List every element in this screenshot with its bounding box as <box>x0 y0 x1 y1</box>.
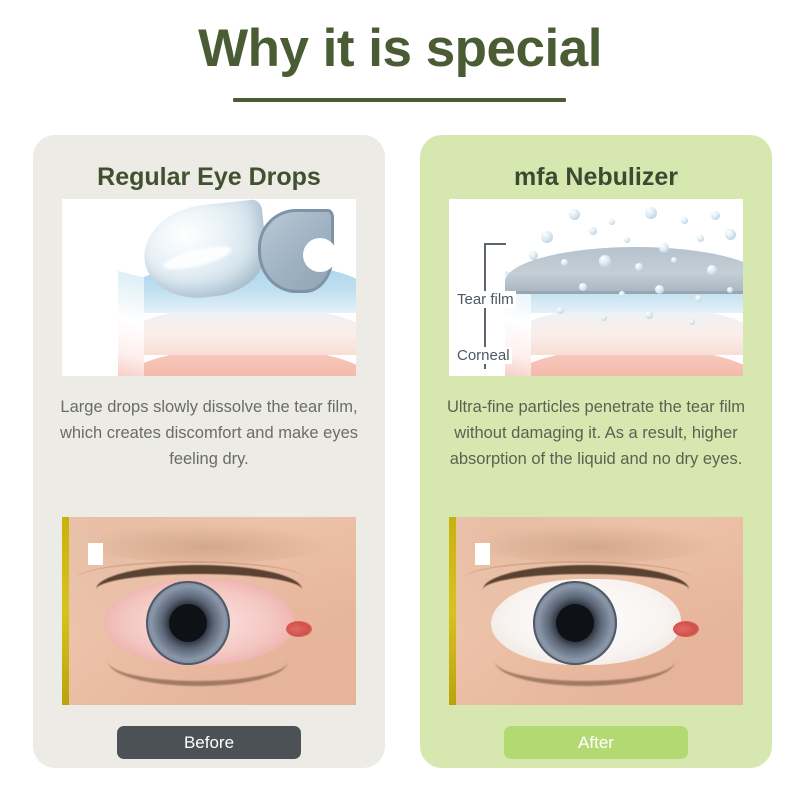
tear-film-label: Tear film <box>455 291 516 308</box>
before-eye-photo <box>62 517 356 705</box>
lower-eyelashes <box>495 637 675 686</box>
particle <box>689 319 695 325</box>
page-title: Why it is special <box>0 14 800 84</box>
illustration-ultra-fine-particles: Tear film Corneal <box>449 199 743 376</box>
particle <box>707 265 717 275</box>
lower-eyelashes <box>108 637 288 686</box>
particle <box>695 295 702 302</box>
illustration-large-droplet <box>62 199 356 376</box>
card-title: mfa Nebulizer <box>420 161 772 193</box>
corneal-light-reflection <box>475 543 490 565</box>
particle <box>541 231 553 243</box>
particle <box>579 283 587 291</box>
comparison-card-mfa-nebulizer: mfa Nebulizer <box>420 135 772 768</box>
particle <box>561 259 568 266</box>
page-header: Why it is special <box>0 0 800 128</box>
tissue-side-face <box>118 271 144 376</box>
upper-eyelashes <box>483 565 689 614</box>
particle <box>609 219 615 225</box>
after-eye-photo <box>449 517 743 705</box>
upper-eyelashes <box>96 565 302 614</box>
particle <box>681 217 688 224</box>
tear-film-bracket-top <box>484 243 506 245</box>
particle <box>635 263 643 271</box>
particle <box>697 235 704 242</box>
particle <box>727 287 733 293</box>
particle <box>589 227 597 235</box>
after-label-pill: After <box>504 726 688 759</box>
title-underline-rule <box>233 98 566 102</box>
card-title: Regular Eye Drops <box>33 161 385 193</box>
tear-duct <box>286 621 312 637</box>
particle <box>619 291 625 297</box>
particle <box>645 207 657 219</box>
particle <box>557 307 564 314</box>
corneal-label: Corneal <box>455 347 512 364</box>
particle <box>659 243 669 253</box>
particle <box>599 255 611 267</box>
photo-edge-strip <box>449 517 456 705</box>
eyebrow-shadow <box>469 523 719 563</box>
corneal-light-reflection <box>88 543 103 565</box>
particle <box>569 209 580 220</box>
comparison-card-regular-eye-drops: Regular Eye Drops Large drops slowly dis… <box>33 135 385 768</box>
particle <box>529 251 538 260</box>
particle <box>725 229 736 240</box>
tear-duct <box>673 621 699 637</box>
card-description: Large drops slowly dissolve the tear fil… <box>55 394 363 472</box>
secondary-droplet-icon <box>258 209 334 293</box>
photo-edge-strip <box>62 517 69 705</box>
card-description: Ultra-fine particles penetrate the tear … <box>442 394 750 472</box>
particle <box>601 315 607 321</box>
particle <box>655 285 664 294</box>
particle <box>671 257 677 263</box>
particle <box>624 237 630 243</box>
before-label-pill: Before <box>117 726 301 759</box>
particle <box>711 211 720 220</box>
eyebrow-shadow <box>82 523 332 563</box>
particle <box>645 311 653 319</box>
